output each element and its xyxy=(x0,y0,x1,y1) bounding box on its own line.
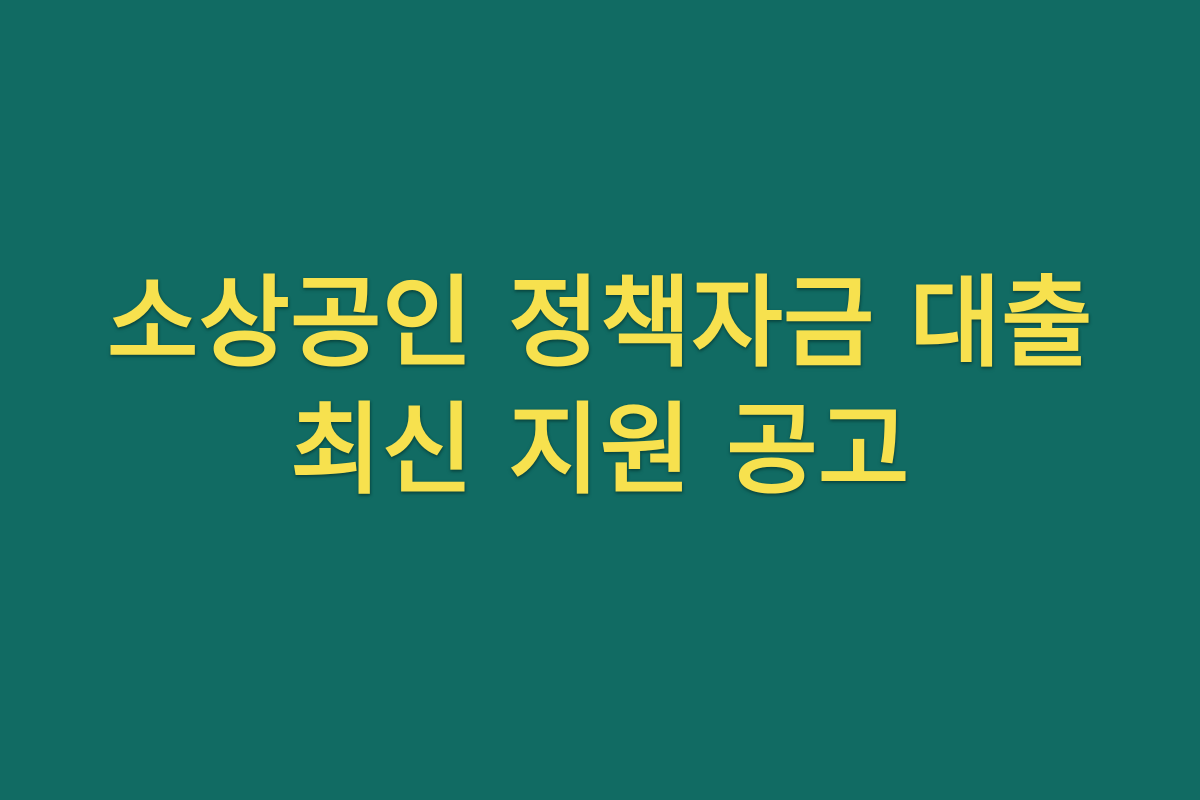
headline-line-2: 최신 지원 공고 xyxy=(0,388,1200,515)
headline-line-1: 소상공인 정책자금 대출 xyxy=(0,261,1200,388)
banner-canvas: 소상공인 정책자금 대출 최신 지원 공고 xyxy=(0,0,1200,800)
headline-block: 소상공인 정책자금 대출 최신 지원 공고 xyxy=(0,261,1200,514)
